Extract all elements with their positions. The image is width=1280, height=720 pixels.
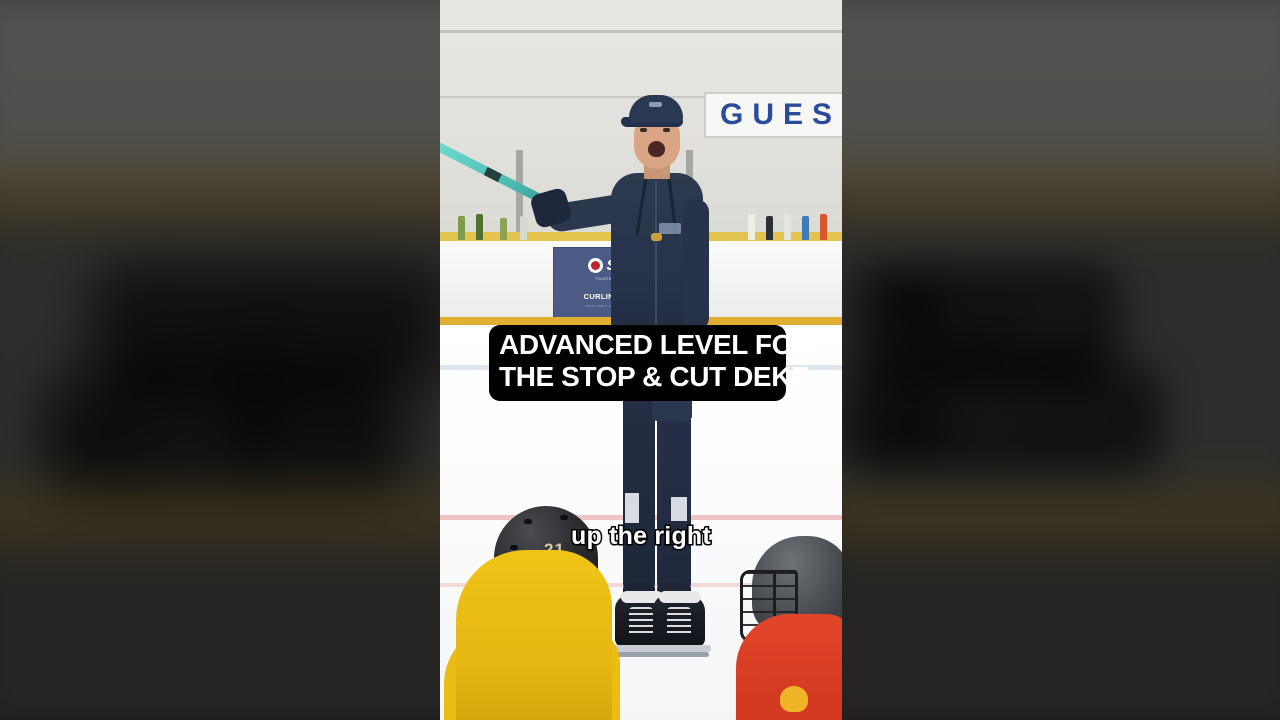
player-red-jersey — [736, 614, 842, 720]
jersey-crest-icon — [780, 686, 808, 712]
water-bottle — [748, 214, 755, 240]
skate-boot — [653, 595, 705, 647]
coach-chest-logo — [659, 223, 681, 234]
coach-leg-stripe-left — [625, 493, 639, 523]
caption-line-1: ADVANCED LEVEL FOR — [499, 329, 776, 361]
skate-blade-runner — [653, 652, 709, 657]
skate-laces — [629, 607, 653, 637]
video-caption-box: ADVANCED LEVEL FOR THE STOP & CUT DEKE — [489, 325, 786, 401]
skate-blade — [649, 645, 711, 652]
video-player-stage: ADVAN THE ST GUES — [0, 0, 1280, 720]
whistle-icon — [651, 233, 662, 241]
coach-left-arm — [683, 199, 709, 331]
water-bottle — [520, 216, 527, 240]
player-yellow-jersey — [456, 550, 612, 720]
coach-jacket-zipper — [655, 181, 657, 331]
coach-mouth — [648, 141, 665, 157]
coach-eye-right — [663, 128, 670, 132]
wall-seam — [440, 30, 842, 33]
skate-laces — [667, 607, 691, 637]
backdrop-caption-right-line2: T DEKE — [846, 370, 1157, 469]
skate-collar — [659, 591, 701, 603]
helmet-vent — [560, 515, 568, 520]
skate-right — [653, 595, 705, 647]
water-bottle — [820, 214, 827, 240]
guests-sign-text: GUES — [720, 98, 841, 132]
coach-eye-left — [640, 128, 647, 132]
backdrop-caption-right-line1: L FOR — [856, 268, 1115, 367]
water-bottle — [802, 216, 809, 240]
caption-line-2: THE STOP & CUT DEKE — [499, 361, 776, 393]
water-bottle — [500, 218, 507, 240]
water-bottle — [784, 214, 791, 240]
coach-leg-left — [623, 383, 655, 595]
water-bottle — [766, 216, 773, 240]
backdrop-caption-line2: THE ST — [49, 378, 403, 487]
coach-cap — [629, 95, 683, 123]
coach-leg-stripe-right — [671, 497, 687, 521]
water-bottle — [476, 214, 483, 240]
guests-sign: GUES — [704, 92, 842, 138]
backdrop-caption-line1: ADVAN — [97, 270, 445, 379]
cap-logo-icon — [649, 102, 662, 107]
subtitle-text: up the right — [440, 522, 842, 551]
water-bottle — [458, 216, 465, 240]
